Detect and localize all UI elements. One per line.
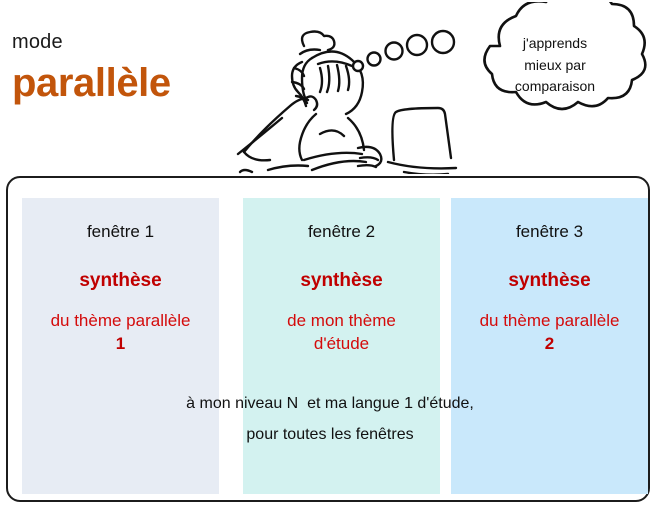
- page-title: parallèle: [12, 61, 222, 105]
- window-desc-emphasis-1: 1: [116, 334, 125, 353]
- windows-columns: fenêtre 1 synthèse du thème parallèle 1 …: [22, 198, 638, 494]
- window-desc-emphasis-2: d'étude: [314, 334, 369, 353]
- title-block: mode parallèle: [12, 32, 222, 105]
- window-label-3: fenêtre 3: [451, 222, 648, 242]
- thought-dots: [340, 18, 470, 80]
- synthese-heading-2: synthèse: [243, 270, 440, 293]
- window-desc-2: de mon thème d'étude: [243, 310, 440, 356]
- thought-bubble-text: j'apprends mieux par comparaison: [475, 33, 635, 98]
- bubble-line-3: comparaison: [475, 76, 635, 98]
- window-column-3[interactable]: fenêtre 3 synthèse du thème parallèle 2: [451, 198, 648, 494]
- window-desc-text-3: du thème parallèle: [480, 311, 620, 330]
- window-desc-3: du thème parallèle 2: [451, 310, 648, 356]
- window-label-1: fenêtre 1: [22, 222, 219, 242]
- window-column-2[interactable]: fenêtre 2 synthèse de mon thème d'étude: [243, 198, 440, 494]
- window-desc-1: du thème parallèle 1: [22, 310, 219, 356]
- synthese-heading-1: synthèse: [22, 270, 219, 293]
- synthese-heading-3: synthèse: [451, 270, 648, 293]
- window-desc-text-2: de mon thème: [287, 311, 396, 330]
- window-column-1[interactable]: fenêtre 1 synthèse du thème parallèle 1: [22, 198, 219, 494]
- bubble-line-2: mieux par: [475, 55, 635, 77]
- windows-panel: fenêtre 1 synthèse du thème parallèle 1 …: [6, 176, 650, 502]
- window-label-2: fenêtre 2: [243, 222, 440, 242]
- bubble-line-1: j'apprends: [475, 33, 635, 55]
- header-area: mode parallèle: [0, 0, 657, 172]
- window-desc-text-1: du thème parallèle: [51, 311, 191, 330]
- window-desc-emphasis-3: 2: [545, 334, 554, 353]
- mode-label: mode: [12, 32, 222, 53]
